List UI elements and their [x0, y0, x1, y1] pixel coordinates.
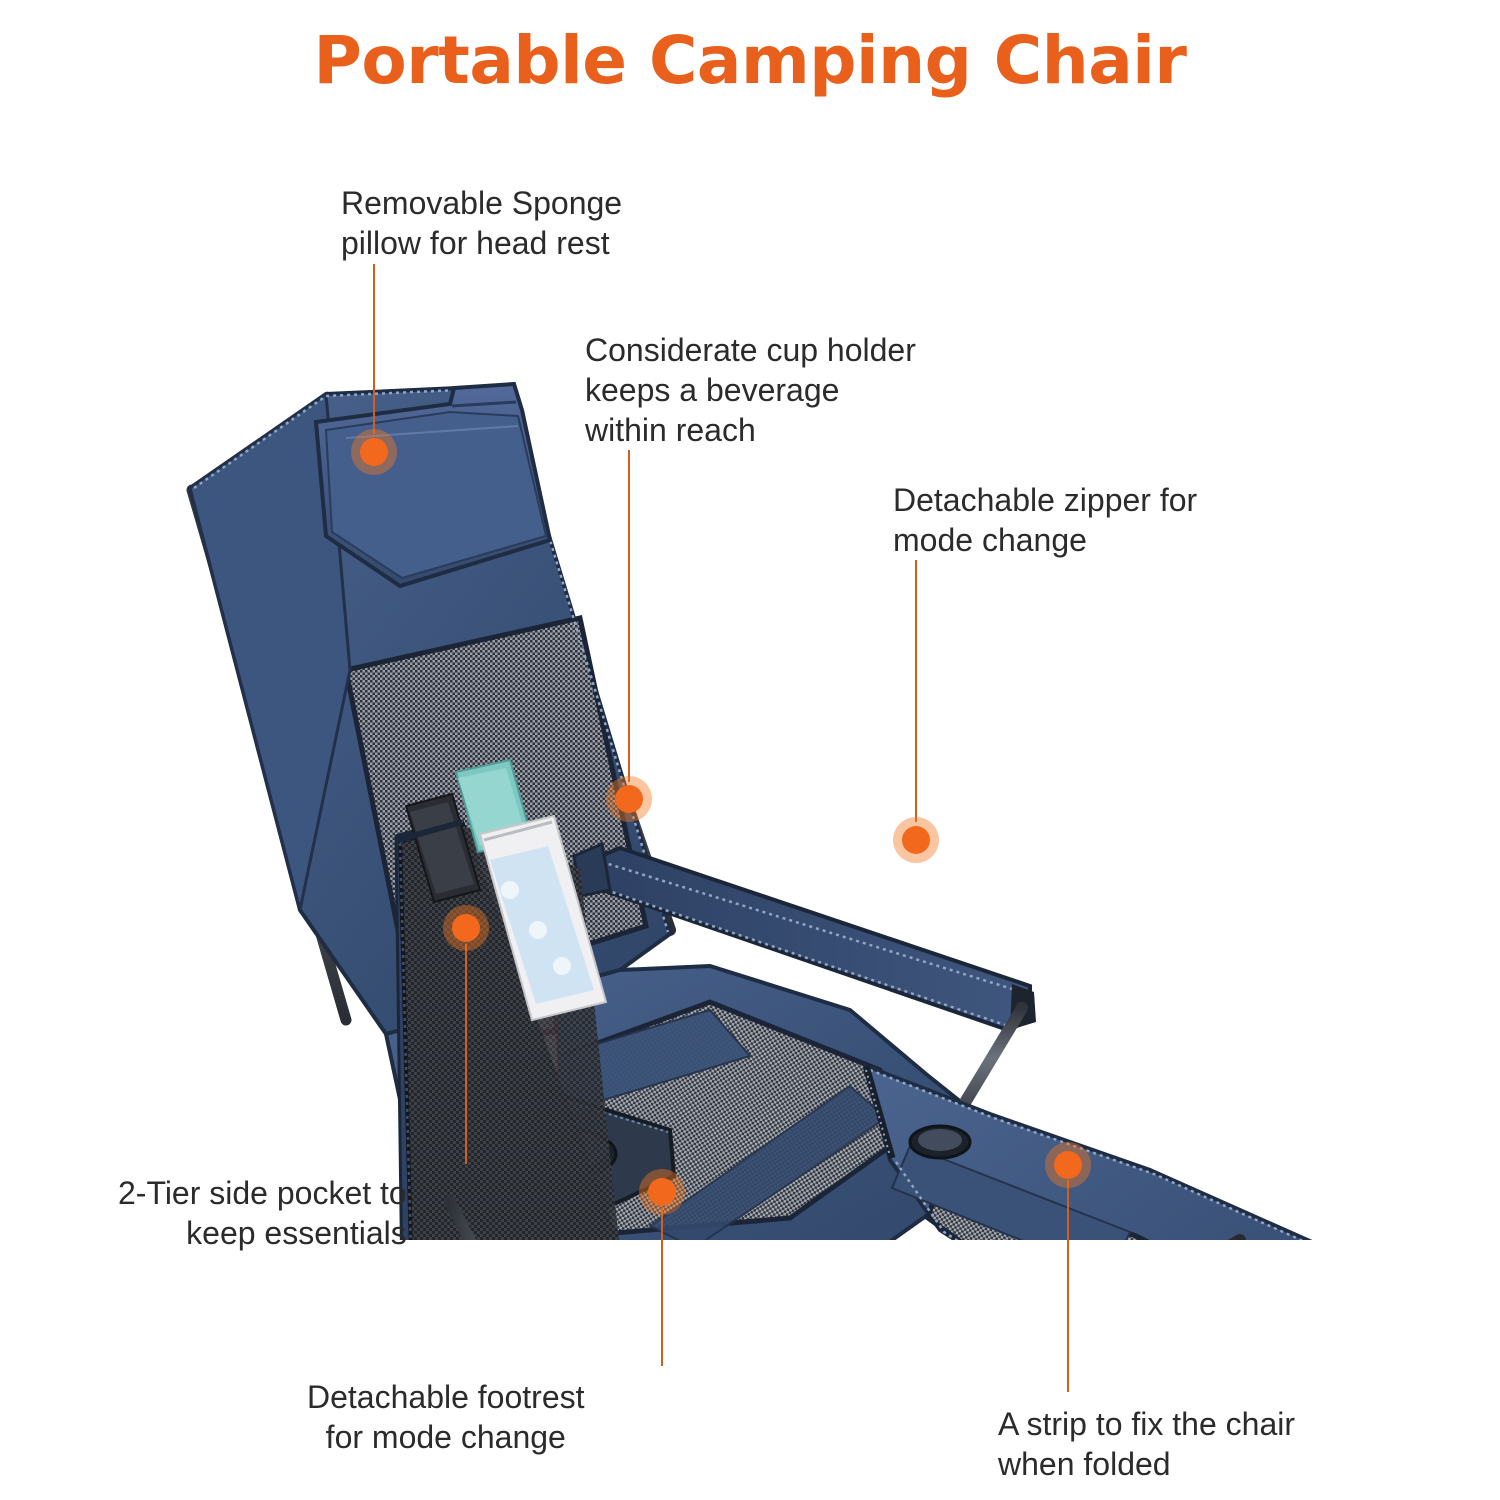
- callout-cup-holder: Considerate cup holder keeps a beverage …: [585, 330, 916, 450]
- callout-line: Detachable footrest: [307, 1377, 585, 1417]
- leader-line-pillow: [373, 264, 375, 434]
- leader-line-footrest: [661, 1208, 663, 1366]
- marker-dot-cup-holder[interactable]: [606, 776, 652, 822]
- marker-dot-footrest[interactable]: [639, 1169, 685, 1215]
- callout-line: 2-Tier side pocket to: [118, 1173, 407, 1213]
- leader-line-strip: [1067, 1180, 1069, 1392]
- page-title: Portable Camping Chair: [0, 22, 1500, 99]
- callout-detachable-footrest: Detachable footrest for mode change: [307, 1377, 585, 1457]
- callout-line: keeps a beverage: [585, 370, 916, 410]
- marker-dot-strip[interactable]: [1045, 1142, 1091, 1188]
- callout-line: pillow for head rest: [341, 223, 622, 263]
- callout-fixing-strip: A strip to fix the chair when folded: [998, 1404, 1295, 1484]
- callout-line: keep essentials: [118, 1213, 407, 1253]
- camping-chair-illustration: [150, 370, 1470, 1240]
- infographic-page: Portable Camping Chair: [0, 0, 1500, 1500]
- callout-line: A strip to fix the chair: [998, 1404, 1295, 1444]
- callout-line: when folded: [998, 1444, 1295, 1484]
- marker-dot-pillow[interactable]: [351, 429, 397, 475]
- callout-line: for mode change: [307, 1417, 585, 1457]
- marker-dot-zipper[interactable]: [893, 817, 939, 863]
- leader-line-zipper: [915, 560, 917, 822]
- callout-line: Removable Sponge: [341, 183, 622, 223]
- callout-detachable-zipper: Detachable zipper for mode change: [893, 480, 1197, 560]
- callout-side-pocket: 2-Tier side pocket to keep essentials: [118, 1173, 407, 1253]
- callout-line: Detachable zipper for: [893, 480, 1197, 520]
- callout-line: mode change: [893, 520, 1197, 560]
- leader-line-cup-holder: [628, 450, 630, 782]
- marker-dot-side-pocket[interactable]: [443, 905, 489, 951]
- callout-line: Considerate cup holder: [585, 330, 916, 370]
- callout-line: within reach: [585, 410, 916, 450]
- leader-line-side-pocket: [465, 944, 467, 1164]
- callout-removable-pillow: Removable Sponge pillow for head rest: [341, 183, 622, 263]
